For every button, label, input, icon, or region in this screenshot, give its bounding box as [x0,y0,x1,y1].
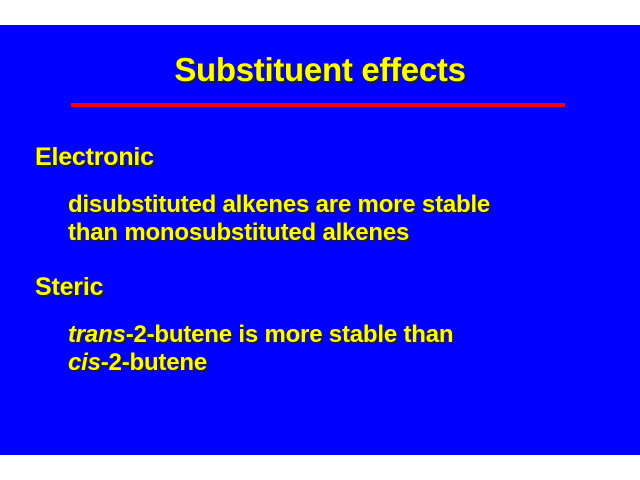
body-line-italic-prefix: trans [68,321,126,348]
body-line-text: -2-butene [101,349,207,376]
page-title: Substituent effects [0,53,640,87]
body-line-italic-prefix: cis [68,349,101,376]
section-body-electronic: disubstituted alkenes are more stable th… [68,191,490,247]
body-line: cis-2-butene [68,349,453,377]
title-underline-rule [71,103,565,107]
section-heading-electronic: Electronic [35,143,154,171]
section-heading-steric: Steric [35,273,103,301]
body-line: than monosubstituted alkenes [68,219,490,247]
body-line-text: disubstituted alkenes are more stable [68,191,490,218]
body-line-text: than monosubstituted alkenes [68,219,409,246]
body-line: trans-2-butene is more stable than [68,321,453,349]
section-body-steric: trans-2-butene is more stable than cis-2… [68,321,453,377]
slide-canvas: Substituent effects Electronic disubstit… [0,25,640,455]
body-line: disubstituted alkenes are more stable [68,191,490,219]
body-line-text: -2-butene is more stable than [126,321,454,348]
